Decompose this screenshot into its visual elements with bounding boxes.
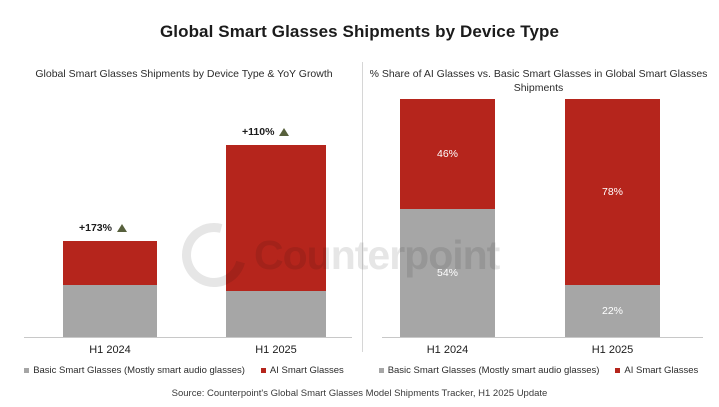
left-axis-line (24, 337, 352, 338)
left-category-label-2024: H1 2024 (63, 344, 157, 356)
left-segment-ai-2024[interactable] (63, 241, 157, 285)
left-growth-label-2025: +110% (242, 126, 289, 138)
left-segment-basic-2025[interactable] (226, 291, 326, 337)
legend-item-ai[interactable]: AI Smart Glasses (261, 365, 344, 376)
right-segment-basic-2024[interactable]: 54% (400, 209, 495, 338)
legend-swatch-ai-icon (615, 368, 620, 373)
right-plot-area: 46% 54% 78% 22% (368, 100, 709, 338)
chart-panel-shipments: Global Smart Glasses Shipments by Device… (10, 60, 358, 380)
legend-item-ai[interactable]: AI Smart Glasses (615, 365, 698, 376)
right-axis-line (382, 337, 703, 338)
left-growth-value-2024: +173% (79, 222, 112, 234)
left-growth-value-2025: +110% (242, 126, 274, 138)
left-plot-area: +173% +110% (10, 100, 358, 338)
left-bar-h1-2025[interactable] (226, 145, 326, 337)
triangle-up-icon (279, 128, 289, 136)
legend-label-basic: Basic Smart Glasses (Mostly smart audio … (388, 365, 600, 376)
legend-swatch-basic-icon (379, 368, 384, 373)
source-note: Source: Counterpoint's Global Smart Glas… (0, 388, 719, 399)
legend-item-basic[interactable]: Basic Smart Glasses (Mostly smart audio … (24, 365, 245, 376)
right-bar-h1-2025[interactable]: 78% 22% (565, 99, 660, 337)
left-growth-label-2024: +173% (79, 222, 127, 234)
legend-label-ai: AI Smart Glasses (270, 365, 344, 376)
chart-panel-share: % Share of AI Glasses vs. Basic Smart Gl… (368, 60, 709, 380)
right-segment-ai-2025-label: 78% (565, 186, 660, 198)
right-category-label-2025: H1 2025 (565, 344, 660, 356)
legend-swatch-basic-icon (24, 368, 29, 373)
right-category-label-2024: H1 2024 (400, 344, 495, 356)
left-legend: Basic Smart Glasses (Mostly smart audio … (10, 365, 358, 376)
triangle-up-icon (117, 224, 127, 232)
left-segment-basic-2024[interactable] (63, 285, 157, 337)
right-segment-basic-2025[interactable]: 22% (565, 285, 660, 337)
right-segment-ai-2024[interactable]: 46% (400, 99, 495, 209)
right-chart-subtitle: % Share of AI Glasses vs. Basic Smart Gl… (368, 67, 709, 95)
page-title: Global Smart Glasses Shipments by Device… (0, 22, 719, 42)
legend-swatch-ai-icon (261, 368, 266, 373)
left-segment-ai-2025[interactable] (226, 145, 326, 291)
right-segment-basic-2025-label: 22% (565, 305, 660, 317)
right-segment-ai-2024-label: 46% (400, 148, 495, 160)
legend-label-ai: AI Smart Glasses (624, 365, 698, 376)
right-legend: Basic Smart Glasses (Mostly smart audio … (368, 365, 709, 376)
right-segment-basic-2024-label: 54% (400, 267, 495, 279)
legend-item-basic[interactable]: Basic Smart Glasses (Mostly smart audio … (379, 365, 600, 376)
left-chart-subtitle: Global Smart Glasses Shipments by Device… (10, 67, 358, 81)
left-bar-h1-2024[interactable] (63, 241, 157, 337)
legend-label-basic: Basic Smart Glasses (Mostly smart audio … (33, 365, 245, 376)
right-segment-ai-2025[interactable]: 78% (565, 99, 660, 285)
right-bar-h1-2024[interactable]: 46% 54% (400, 99, 495, 337)
panel-divider (362, 62, 363, 352)
left-category-label-2025: H1 2025 (226, 344, 326, 356)
